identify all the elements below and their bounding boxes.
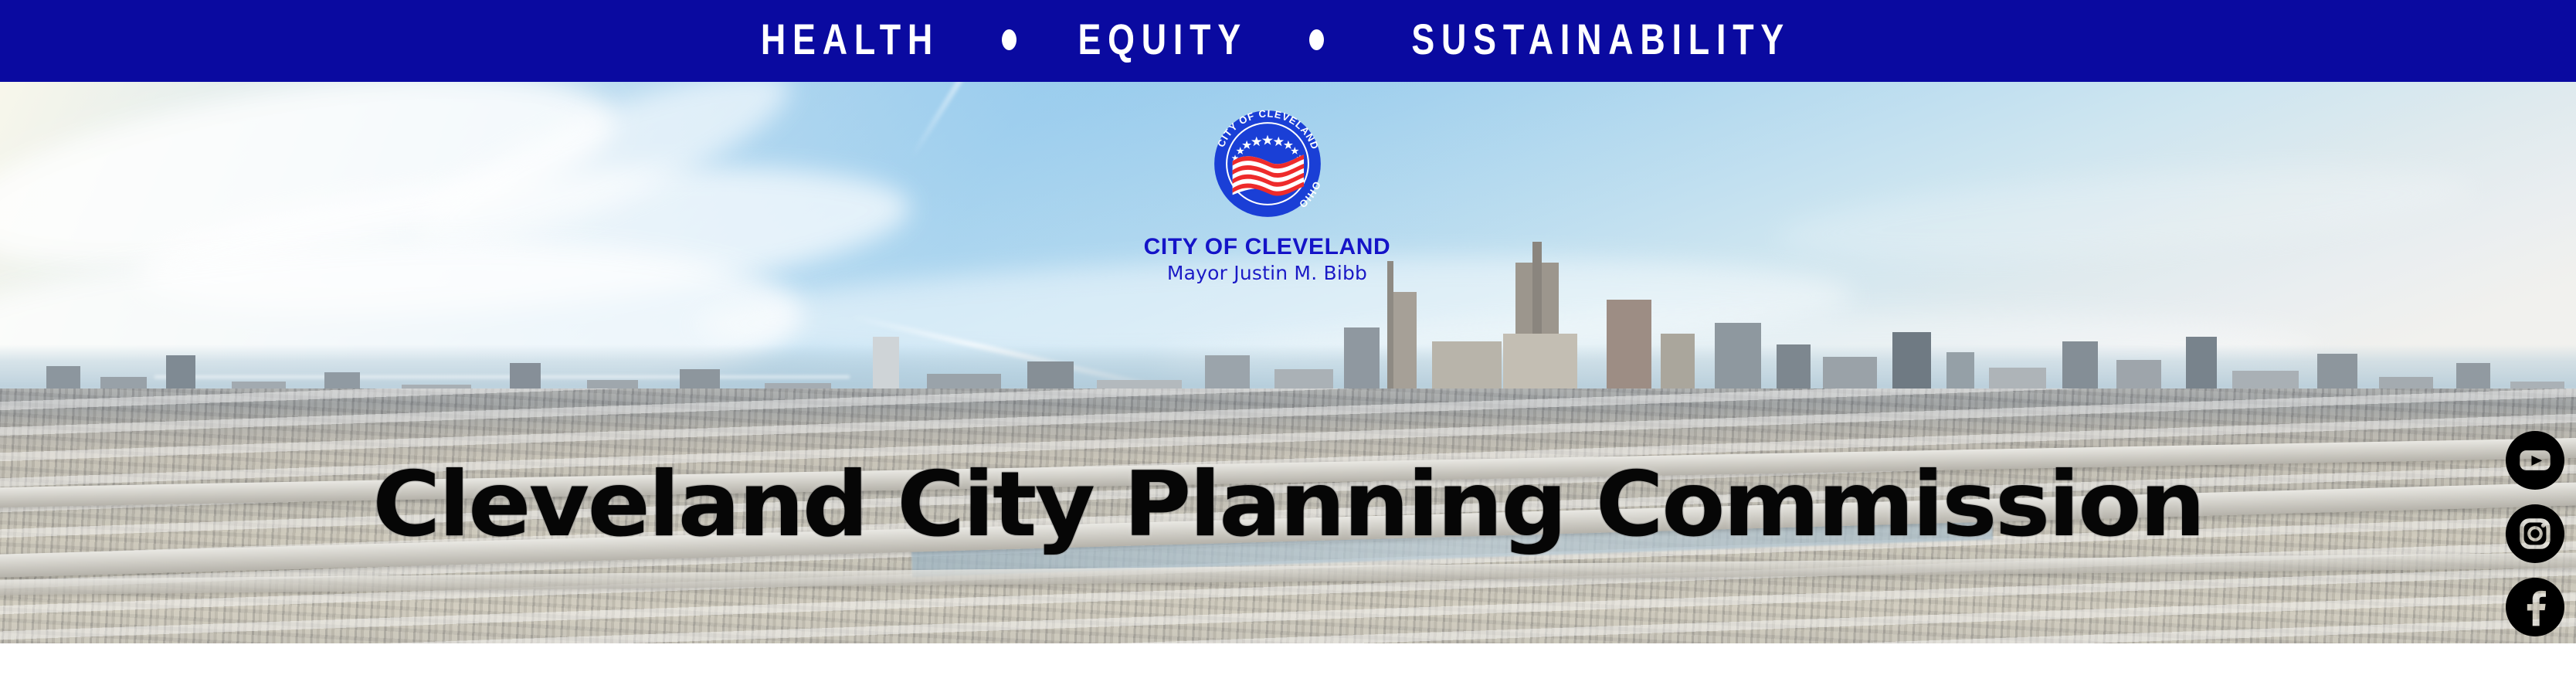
social-links bbox=[2506, 431, 2564, 636]
tagline-word-sustainability: SUSTAINABILITY bbox=[1411, 18, 1790, 61]
page-title: Cleveland City Planning Commission bbox=[0, 460, 2576, 550]
city-of-cleveland-branding: CITY OF CLEVELAND OHIO CITY OF CLEVELAND… bbox=[1118, 99, 1416, 283]
tagline-word-equity: EQUITY bbox=[1078, 18, 1247, 61]
bottom-white-strip bbox=[0, 643, 2576, 682]
instagram-icon[interactable] bbox=[2506, 504, 2564, 563]
seal-wordmark-subtitle: Mayor Justin M. Bibb bbox=[1118, 263, 1416, 283]
seal-wordmark-title: CITY OF CLEVELAND bbox=[1118, 235, 1416, 260]
tagline-word-health: HEALTH bbox=[761, 18, 939, 61]
city-of-cleveland-seal-icon: CITY OF CLEVELAND OHIO bbox=[1203, 99, 1332, 229]
tagline-inner: HEALTH EQUITY SUSTAINABILITY bbox=[738, 18, 1838, 61]
facebook-icon[interactable] bbox=[2506, 578, 2564, 636]
youtube-icon[interactable] bbox=[2506, 431, 2564, 490]
tagline-bar: HEALTH EQUITY SUSTAINABILITY bbox=[0, 0, 2576, 82]
bullet-dot-icon bbox=[1002, 29, 1016, 50]
city-banner: HEALTH EQUITY SUSTAINABILITY bbox=[0, 0, 2576, 682]
bullet-dot-icon bbox=[1309, 29, 1324, 50]
